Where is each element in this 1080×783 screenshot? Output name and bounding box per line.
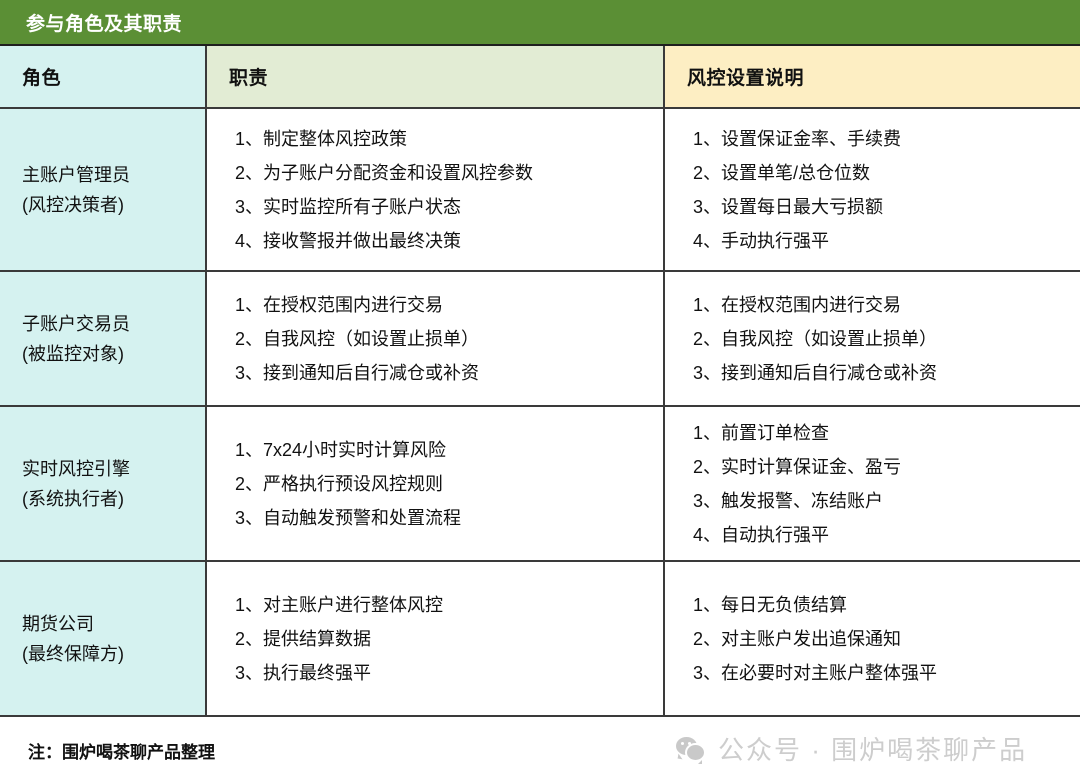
risk-cell: 1、设置保证金率、手续费 2、设置单笔/总仓位数 3、设置每日最大亏损额 4、手… (663, 109, 1080, 270)
column-header-risk-label: 风控设置说明 (687, 63, 804, 90)
list-item: 1、每日无负债结算 (693, 588, 1070, 622)
list-item: 1、制定整体风控政策 (235, 122, 653, 156)
list-item: 3、触发报警、冻结账户 (693, 484, 1070, 518)
duty-cell: 1、对主账户进行整体风控 2、提供结算数据 3、执行最终强平 (205, 562, 663, 715)
list-item: 3、接到通知后自行减仓或补资 (693, 356, 1070, 390)
duty-cell: 1、在授权范围内进行交易 2、自我风控（如设置止损单） 3、接到通知后自行减仓或… (205, 272, 663, 405)
table-row: 实时风控引擎 (系统执行者) 1、7x24小时实时计算风险 2、严格执行预设风控… (0, 407, 1080, 562)
list-item: 2、实时计算保证金、盈亏 (693, 450, 1070, 484)
role-name: 实时风控引擎 (22, 454, 197, 484)
list-item: 4、手动执行强平 (693, 224, 1070, 258)
list-item: 1、在授权范围内进行交易 (235, 288, 653, 322)
list-item: 1、7x24小时实时计算风险 (235, 433, 653, 467)
list-item: 2、提供结算数据 (235, 622, 653, 656)
role-name: 子账户交易员 (22, 309, 197, 339)
column-header-duty: 职责 (205, 46, 663, 107)
column-header-risk: 风控设置说明 (663, 46, 1080, 107)
role-subtitle: (风控决策者) (22, 190, 197, 220)
role-subtitle: (系统执行者) (22, 484, 197, 514)
column-header-role-label: 角色 (22, 63, 61, 90)
list-item: 3、接到通知后自行减仓或补资 (235, 356, 653, 390)
risk-cell: 1、在授权范围内进行交易 2、自我风控（如设置止损单） 3、接到通知后自行减仓或… (663, 272, 1080, 405)
list-item: 1、设置保证金率、手续费 (693, 122, 1070, 156)
role-subtitle: (最终保障方) (22, 639, 197, 669)
table-title-bar: 参与角色及其职责 (0, 0, 1080, 46)
role-subtitle: (被监控对象) (22, 339, 197, 369)
list-item: 3、在必要时对主账户整体强平 (693, 656, 1070, 690)
duty-cell: 1、7x24小时实时计算风险 2、严格执行预设风控规则 3、自动触发预警和处置流… (205, 407, 663, 560)
table-row: 主账户管理员 (风控决策者) 1、制定整体风控政策 2、为子账户分配资金和设置风… (0, 109, 1080, 272)
table-note: 注：围炉喝茶聊产品整理 (28, 738, 215, 763)
list-item: 3、实时监控所有子账户状态 (235, 190, 653, 224)
table-header-row: 角色 职责 风控设置说明 (0, 46, 1080, 109)
list-item: 1、在授权范围内进行交易 (693, 288, 1070, 322)
list-item: 3、执行最终强平 (235, 656, 653, 690)
column-header-role: 角色 (0, 46, 205, 107)
table-row: 期货公司 (最终保障方) 1、对主账户进行整体风控 2、提供结算数据 3、执行最… (0, 562, 1080, 717)
list-item: 4、接收警报并做出最终决策 (235, 224, 653, 258)
list-item: 2、自我风控（如设置止损单） (693, 322, 1070, 356)
list-item: 2、严格执行预设风控规则 (235, 467, 653, 501)
table-row: 子账户交易员 (被监控对象) 1、在授权范围内进行交易 2、自我风控（如设置止损… (0, 272, 1080, 407)
list-item: 2、对主账户发出追保通知 (693, 622, 1070, 656)
list-item: 3、设置每日最大亏损额 (693, 190, 1070, 224)
list-item: 1、对主账户进行整体风控 (235, 588, 653, 622)
list-item: 2、设置单笔/总仓位数 (693, 156, 1070, 190)
list-item: 3、自动触发预警和处置流程 (235, 501, 653, 535)
risk-cell: 1、前置订单检查 2、实时计算保证金、盈亏 3、触发报警、冻结账户 4、自动执行… (663, 407, 1080, 560)
role-cell: 子账户交易员 (被监控对象) (0, 272, 205, 405)
duty-cell: 1、制定整体风控政策 2、为子账户分配资金和设置风控参数 3、实时监控所有子账户… (205, 109, 663, 270)
risk-cell: 1、每日无负债结算 2、对主账户发出追保通知 3、在必要时对主账户整体强平 (663, 562, 1080, 715)
list-item: 2、自我风控（如设置止损单） (235, 322, 653, 356)
list-item: 4、自动执行强平 (693, 518, 1070, 552)
role-cell: 实时风控引擎 (系统执行者) (0, 407, 205, 560)
column-header-duty-label: 职责 (229, 63, 268, 90)
role-name: 主账户管理员 (22, 160, 197, 190)
role-cell: 期货公司 (最终保障方) (0, 562, 205, 715)
role-name: 期货公司 (22, 609, 197, 639)
table-note-row: 注：围炉喝茶聊产品整理 (0, 717, 1080, 783)
table-title: 参与角色及其职责 (26, 9, 182, 36)
roles-responsibilities-table: 参与角色及其职责 角色 职责 风控设置说明 主账户管理员 (风控决策者) 1、制… (0, 0, 1080, 783)
list-item: 1、前置订单检查 (693, 416, 1070, 450)
role-cell: 主账户管理员 (风控决策者) (0, 109, 205, 270)
list-item: 2、为子账户分配资金和设置风控参数 (235, 156, 653, 190)
